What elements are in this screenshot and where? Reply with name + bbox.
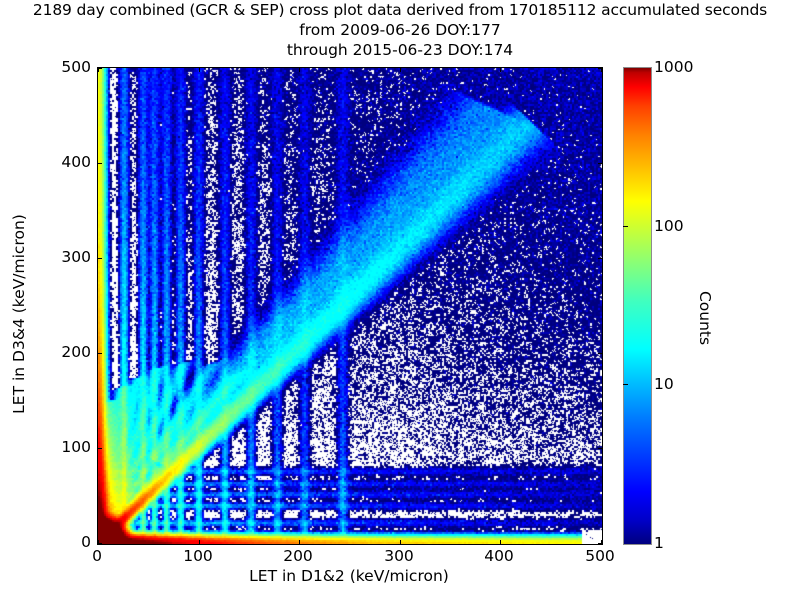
x-tick-400 [500,540,501,544]
plot-area[interactable] [97,67,603,545]
x-tick-label-100: 100 [183,547,213,565]
y-tick-0 [98,543,102,544]
x-axis-label: LET in D1&2 (keV/micron) [97,567,601,585]
colorbar-tick-10 [623,384,628,385]
y-tick-100 [598,448,602,449]
colorbar-tick-100 [623,226,628,227]
colorbar-tick-label-1000: 1000 [654,58,693,76]
x-tick-100 [199,540,200,544]
y-tick-500 [98,68,102,69]
x-tick-label-500: 500 [585,547,615,565]
y-tick-300 [98,258,102,259]
y-tick-label-200: 200 [61,343,91,361]
y-tick-200 [98,353,102,354]
title-line-1: 2189 day combined (GCR & SEP) cross plot… [0,0,800,20]
y-tick-400 [98,163,102,164]
colorbar-title: Counts [696,291,714,345]
y-axis-label: LET in D3&4 (keV/micron) [10,164,28,464]
x-tick-400 [500,68,501,72]
y-tick-label-100: 100 [61,438,91,456]
y-tick-500 [598,68,602,69]
chart-title-block: 2189 day combined (GCR & SEP) cross plot… [0,0,800,60]
y-tick-0 [598,543,602,544]
y-tick-label-500: 500 [61,58,91,76]
x-tick-label-200: 200 [283,547,313,565]
y-tick-200 [598,353,602,354]
x-tick-label-300: 300 [384,547,414,565]
title-line-3: through 2015-06-23 DOY:174 [0,40,800,60]
title-line-2: from 2009-06-26 DOY:177 [0,20,800,40]
y-tick-label-0: 0 [81,533,91,551]
x-tick-200 [299,68,300,72]
y-tick-300 [598,258,602,259]
y-tick-400 [598,163,602,164]
colorbar[interactable] [623,67,652,545]
x-tick-label-0: 0 [92,547,102,565]
x-tick-100 [199,68,200,72]
colorbar-gradient [624,68,651,544]
colorbar-tick-label-100: 100 [654,217,684,235]
x-tick-300 [400,540,401,544]
x-tick-300 [400,68,401,72]
x-tick-label-400: 400 [484,547,514,565]
density-scatter-canvas[interactable] [98,68,602,544]
y-tick-label-400: 400 [61,153,91,171]
colorbar-tick-label-1: 1 [654,534,664,552]
colorbar-tick-label-10: 10 [654,375,674,393]
y-tick-label-300: 300 [61,248,91,266]
x-tick-200 [299,540,300,544]
y-tick-100 [98,448,102,449]
